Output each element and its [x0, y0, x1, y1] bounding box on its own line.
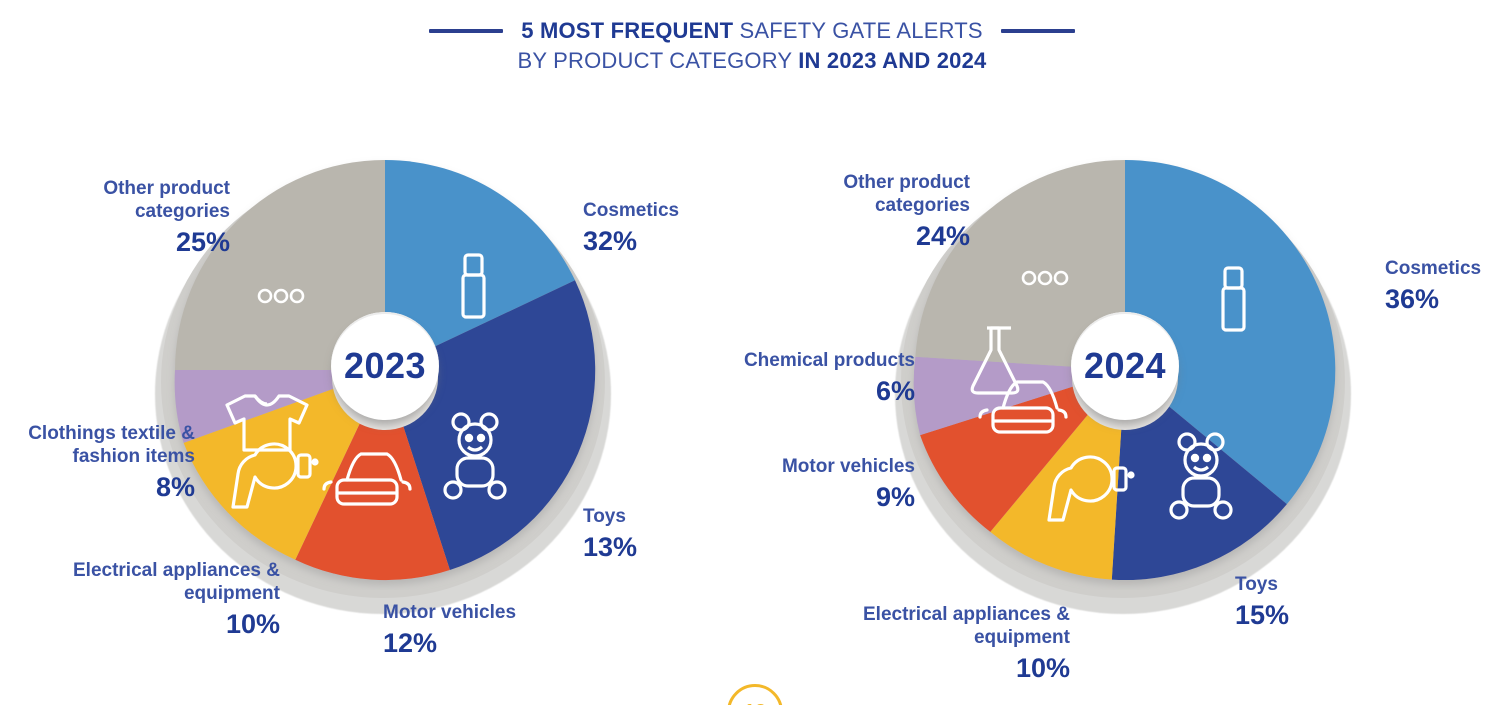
label-toys-2023-name: Toys	[583, 506, 626, 527]
pie-2024-wrap: 2024	[905, 150, 1345, 590]
label-chemical-2024-name: Chemical products	[744, 350, 915, 371]
label-electrical-2024-name: Electrical appliances & equipment	[863, 604, 1070, 648]
label-clothings-2023-name: Clothings textile & fashion items	[28, 423, 195, 467]
label-toys-2024-name: Toys	[1235, 574, 1278, 595]
year-badge-2024: 2024	[1071, 312, 1179, 420]
year-badge-2023: 2023	[331, 312, 439, 420]
label-cosmetics-2023-name: Cosmetics	[583, 200, 679, 221]
label-cosmetics-2024: Cosmetics 36%	[1385, 258, 1504, 315]
label-motor-vehicles-2023-value: 12%	[383, 627, 553, 659]
label-other-2024: Other product categories 24%	[775, 172, 970, 252]
label-electrical-2023-value: 10%	[20, 608, 280, 640]
label-clothings-2023: Clothings textile & fashion items 8%	[20, 423, 195, 503]
label-other-2024-value: 24%	[775, 220, 970, 252]
label-motor-vehicles-2024-value: 9%	[745, 481, 915, 513]
charts-container: 2023	[0, 0, 1504, 705]
label-toys-2023: Toys 13%	[583, 506, 743, 563]
label-other-2023: Other product categories 25%	[30, 178, 230, 258]
label-other-2023-value: 25%	[30, 226, 230, 258]
label-electrical-2024-value: 10%	[820, 652, 1070, 684]
label-toys-2024-value: 15%	[1235, 599, 1385, 631]
label-motor-vehicles-2023: Motor vehicles 12%	[383, 602, 553, 659]
label-motor-vehicles-2024: Motor vehicles 9%	[745, 456, 915, 513]
label-toys-2023-value: 13%	[583, 531, 743, 563]
label-cosmetics-2023: Cosmetics 32%	[583, 200, 793, 257]
label-electrical-2023-name: Electrical appliances & equipment	[73, 560, 280, 604]
label-electrical-2024: Electrical appliances & equipment 10%	[820, 604, 1070, 684]
label-chemical-2024-value: 6%	[710, 375, 915, 407]
label-motor-vehicles-2024-name: Motor vehicles	[782, 456, 915, 477]
pie-2023-wrap: 2023	[165, 150, 605, 590]
label-cosmetics-2024-value: 36%	[1385, 283, 1504, 315]
infographic-page: 5 MOST FREQUENT SAFETY GATE ALERTS BY PR…	[0, 0, 1504, 705]
label-toys-2024: Toys 15%	[1235, 574, 1385, 631]
label-clothings-2023-value: 8%	[20, 471, 195, 503]
label-cosmetics-2023-value: 32%	[583, 225, 793, 257]
label-electrical-2023: Electrical appliances & equipment 10%	[20, 560, 280, 640]
label-other-2023-name: Other product categories	[103, 178, 230, 222]
label-other-2024-name: Other product categories	[843, 172, 970, 216]
label-chemical-2024: Chemical products 6%	[710, 350, 915, 407]
label-cosmetics-2024-name: Cosmetics	[1385, 258, 1481, 279]
label-motor-vehicles-2023-name: Motor vehicles	[383, 602, 516, 623]
